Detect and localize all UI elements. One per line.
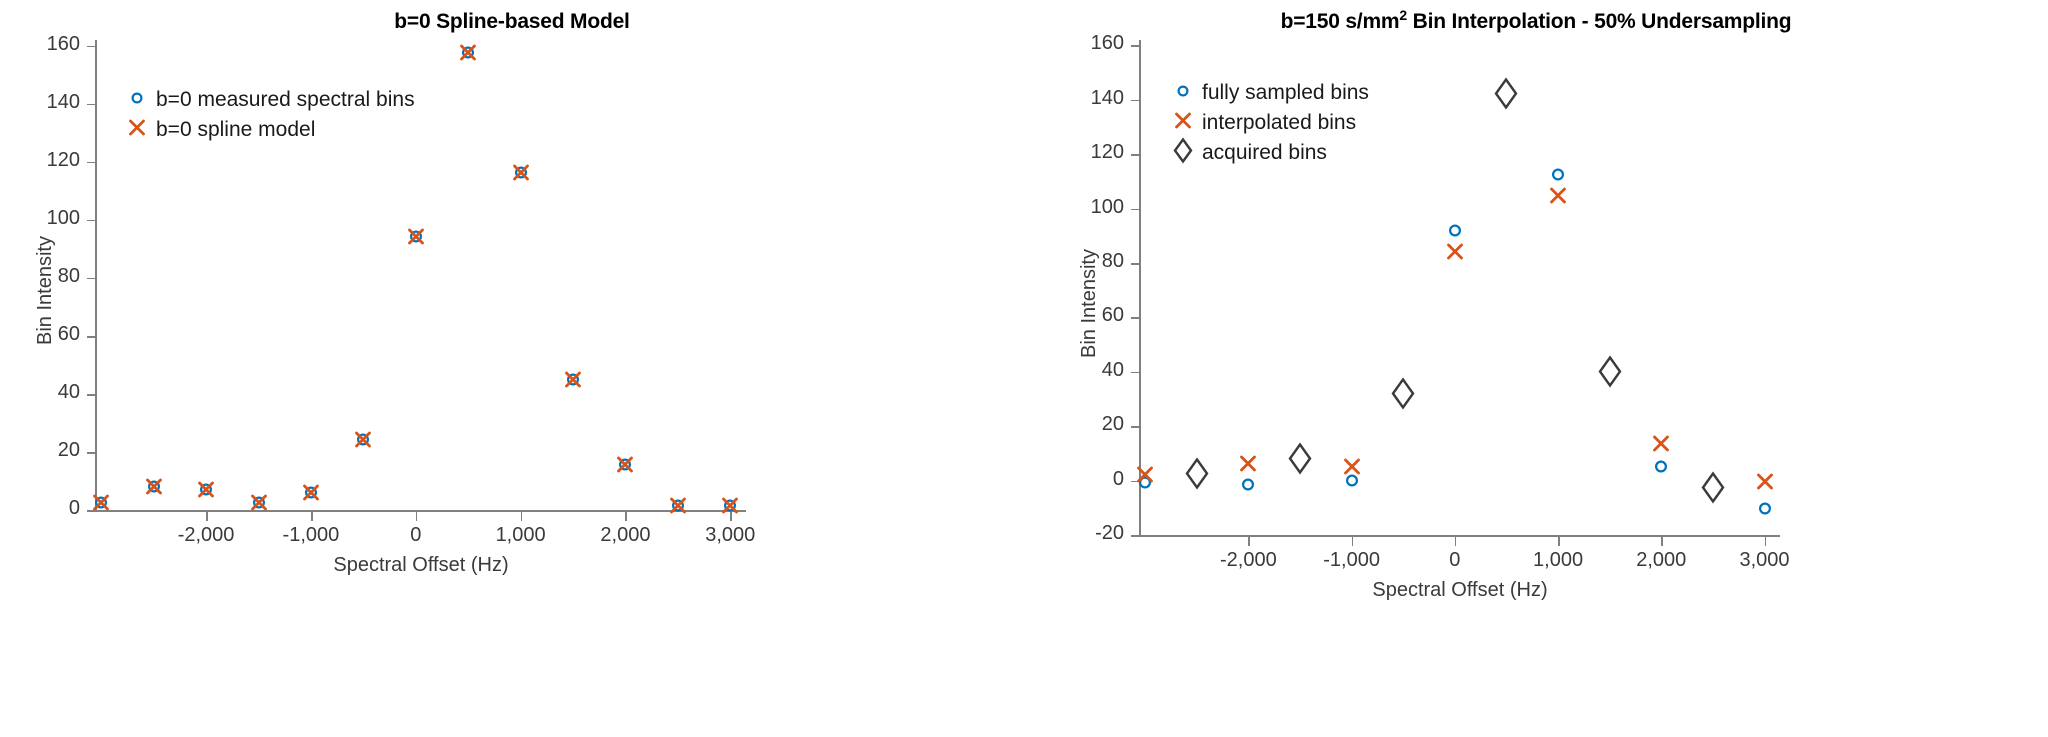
x-tick — [730, 512, 732, 521]
right-plot-legend: fully sampled binsinterpolated binsacqui… — [1166, 78, 1369, 168]
y-tick-label: 140 — [1024, 87, 1124, 110]
y-tick — [87, 452, 96, 454]
data-point-circle — [357, 433, 370, 451]
right-plot-title-post: Bin Interpolation - 50% Undersampling — [1407, 10, 1791, 33]
y-tick — [1131, 45, 1140, 47]
data-point-cross — [1756, 473, 1773, 495]
figure-root: b=0 Spline-based Model 02040608010012014… — [0, 0, 2048, 737]
x-tick — [1248, 537, 1250, 546]
y-tick — [1131, 154, 1140, 156]
y-tick — [87, 104, 96, 106]
left-plot-panel: b=0 Spline-based Model 02040608010012014… — [0, 0, 1024, 737]
data-point-circle — [1345, 474, 1358, 492]
data-point-circle — [409, 230, 422, 248]
x-tick-label: 3,000 — [1705, 549, 1825, 572]
y-tick — [87, 220, 96, 222]
data-point-circle — [671, 499, 684, 517]
y-tick-label: 160 — [1024, 32, 1124, 55]
y-tick-label: 20 — [0, 439, 80, 462]
x-tick-label: 1,000 — [461, 524, 581, 547]
x-tick — [416, 512, 418, 521]
circle-icon — [1166, 78, 1200, 108]
right-x-axis-line — [1140, 535, 1780, 537]
data-point-cross — [355, 431, 372, 453]
data-point-circle — [1552, 168, 1565, 186]
data-point-cross — [1343, 458, 1360, 480]
x-tick — [311, 512, 313, 521]
y-tick — [1131, 426, 1140, 428]
x-tick-label: 2,000 — [1601, 549, 1721, 572]
x-tick — [206, 512, 208, 521]
y-tick-label: 100 — [1024, 196, 1124, 219]
y-tick — [1131, 535, 1140, 537]
legend-item-label: b=0 measured spectral bins — [156, 88, 415, 112]
right-y-axis-label: Bin Intensity — [1078, 249, 1101, 358]
data-point-diamond — [1185, 457, 1209, 494]
right-plot-panel: b=150 s/mm2 Bin Interpolation - 50% Unde… — [1024, 0, 2048, 737]
y-tick-label: 80 — [1024, 250, 1124, 273]
data-point-cross — [250, 494, 267, 516]
x-tick-label: 2,000 — [565, 524, 685, 547]
left-x-axis-label: Spectral Offset (Hz) — [96, 554, 746, 577]
y-tick — [1131, 263, 1140, 265]
legend-item[interactable]: b=0 measured spectral bins — [120, 85, 415, 115]
right-plot-title-superscript: 2 — [1399, 7, 1407, 23]
data-point-diamond — [1598, 355, 1622, 392]
data-point-diamond — [1494, 78, 1518, 115]
y-tick-label: 160 — [0, 33, 80, 56]
legend-item-label: acquired bins — [1202, 141, 1327, 165]
data-point-diamond — [1288, 443, 1312, 480]
y-tick-label: 40 — [1024, 359, 1124, 382]
data-point-cross — [407, 228, 424, 250]
y-tick — [1131, 481, 1140, 483]
legend-item[interactable]: acquired bins — [1166, 138, 1369, 168]
legend-item-label: b=0 spline model — [156, 118, 315, 142]
left-plot-title-text: b=0 Spline-based Model — [394, 10, 629, 33]
legend-item-label: fully sampled bins — [1202, 81, 1369, 105]
data-point-circle — [1448, 224, 1461, 242]
y-tick-label: 60 — [1024, 304, 1124, 327]
data-point-diamond — [1391, 377, 1415, 414]
legend-item[interactable]: interpolated bins — [1166, 108, 1369, 138]
data-point-circle — [304, 486, 317, 504]
left-plot-legend: b=0 measured spectral binsb=0 spline mod… — [120, 85, 415, 145]
diamond-icon — [1166, 138, 1200, 168]
data-point-circle — [567, 373, 580, 391]
x-tick-label: -1,000 — [1292, 549, 1412, 572]
x-tick-label: -2,000 — [1188, 549, 1308, 572]
data-point-circle — [1139, 476, 1152, 494]
y-tick — [1131, 209, 1140, 211]
y-tick — [87, 510, 96, 512]
x-tick-label: 3,000 — [670, 524, 790, 547]
x-tick — [1765, 537, 1767, 546]
x-tick-label: 1,000 — [1498, 549, 1618, 572]
right-plot-title: b=150 s/mm2 Bin Interpolation - 50% Unde… — [1024, 10, 2048, 34]
legend-item[interactable]: fully sampled bins — [1166, 78, 1369, 108]
x-tick-label: -1,000 — [251, 524, 371, 547]
data-point-cross — [460, 44, 477, 66]
x-tick — [1558, 537, 1560, 546]
y-tick-label: 140 — [0, 91, 80, 114]
data-point-cross — [1550, 187, 1567, 209]
x-tick — [1455, 537, 1457, 546]
x-tick — [1661, 537, 1663, 546]
data-point-circle — [1242, 478, 1255, 496]
y-tick-label: 120 — [1024, 141, 1124, 164]
x-tick — [625, 512, 627, 521]
right-x-axis-label: Spectral Offset (Hz) — [1140, 579, 1780, 602]
data-point-cross — [145, 478, 162, 500]
y-tick — [1131, 100, 1140, 102]
y-tick — [87, 162, 96, 164]
data-point-cross — [512, 164, 529, 186]
x-tick — [521, 512, 523, 521]
y-tick-label: 0 — [0, 497, 80, 520]
cross-icon — [120, 115, 154, 145]
data-point-cross — [565, 371, 582, 393]
y-tick-label: 100 — [0, 207, 80, 230]
data-point-cross — [669, 497, 686, 519]
legend-item-label: interpolated bins — [1202, 111, 1356, 135]
x-tick-label: 0 — [1395, 549, 1515, 572]
data-point-cross — [302, 484, 319, 506]
y-tick — [1131, 372, 1140, 374]
cross-icon — [1166, 108, 1200, 138]
legend-item[interactable]: b=0 spline model — [120, 115, 415, 145]
y-tick-label: 20 — [1024, 413, 1124, 436]
right-plot-title-pre: b=150 s/mm — [1281, 10, 1400, 33]
y-tick — [87, 336, 96, 338]
left-y-axis-line — [95, 40, 97, 510]
left-y-axis-label: Bin Intensity — [34, 236, 57, 345]
y-tick-label: 120 — [0, 149, 80, 172]
y-tick — [87, 46, 96, 48]
data-point-circle — [514, 166, 527, 184]
data-point-circle — [1655, 460, 1668, 478]
circle-icon — [120, 85, 154, 115]
data-point-circle — [619, 458, 632, 476]
left-x-axis-line — [96, 510, 746, 512]
x-tick — [1352, 537, 1354, 546]
data-point-circle — [147, 480, 160, 498]
y-tick-label: 40 — [0, 381, 80, 404]
data-point-circle — [462, 46, 475, 64]
y-tick — [87, 278, 96, 280]
data-point-circle — [1758, 502, 1771, 520]
y-tick-label: -20 — [1024, 522, 1124, 545]
data-point-cross — [617, 456, 634, 478]
y-tick — [1131, 317, 1140, 319]
data-point-circle — [200, 483, 213, 501]
data-point-cross — [198, 481, 215, 503]
y-tick-label: 0 — [1024, 468, 1124, 491]
data-point-cross — [1240, 455, 1257, 477]
y-tick — [87, 394, 96, 396]
data-point-diamond — [1701, 472, 1725, 509]
x-tick-label: -2,000 — [146, 524, 266, 547]
right-y-axis-line — [1139, 40, 1141, 535]
data-point-cross — [1653, 435, 1670, 457]
left-plot-title: b=0 Spline-based Model — [0, 10, 1024, 34]
x-tick-label: 0 — [356, 524, 476, 547]
data-point-cross — [1446, 243, 1463, 265]
